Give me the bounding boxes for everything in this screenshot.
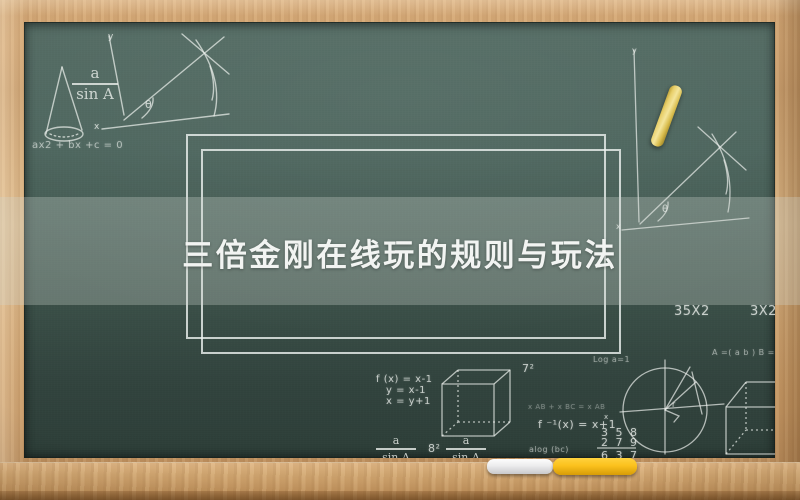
- log-product-expression: alog (bc): [529, 445, 569, 454]
- function-fx: f (x) = x-1: [376, 374, 433, 385]
- chalk-ledge: [0, 462, 800, 500]
- fraction-bar: [446, 448, 486, 450]
- expr-3x2: 3X2: [750, 304, 775, 319]
- expr-8-squared: 8²: [428, 442, 440, 455]
- sine-rule-left-num: a: [376, 435, 416, 446]
- expr-7-squared: 7²: [522, 362, 534, 375]
- axis-label-y: y: [108, 32, 114, 42]
- yellow-chalk-stick: [649, 84, 683, 149]
- axis-label-y-right: y: [632, 46, 637, 55]
- matrix-expression: A =( a b ) B =( c d ) , =( e f ): [712, 348, 775, 357]
- page-title: 三倍金刚在线玩的规则与玩法: [0, 222, 800, 282]
- sine-rule-top-num: a: [72, 66, 118, 81]
- log-base-expression: Log a=1: [593, 355, 630, 364]
- quadratic-equation: ax2 + bx +c = 0: [32, 140, 123, 151]
- fraction-bar: [72, 83, 118, 85]
- addition-row-1: 3 5 8: [601, 426, 639, 439]
- angle-theta-label: θ: [145, 98, 152, 111]
- addition-row-2: 2 7 9: [601, 436, 639, 449]
- chalk-ledge-lip: [0, 491, 800, 500]
- sine-rule-mid-den: sin A: [446, 452, 486, 459]
- sine-rule-mid-num: a: [446, 435, 486, 446]
- inverse-function: f ⁻¹(x) = x+1: [538, 418, 616, 431]
- radius-label: r: [672, 400, 676, 409]
- fraction-bar: [376, 448, 416, 450]
- axis-label-x: x: [94, 122, 100, 132]
- white-chalk-stick: [487, 459, 553, 474]
- segment-sum-expression: x AB + x BC = x AB: [528, 403, 605, 411]
- sine-rule-mid: a sin A: [446, 435, 486, 458]
- addition-result: 6 3 7: [601, 449, 639, 458]
- angle-theta-label-right: θ: [662, 204, 669, 215]
- yellow-chalk-stick-ledge: [553, 458, 637, 475]
- sine-rule-top-den: sin A: [72, 87, 118, 102]
- function-x: x = y+1: [386, 396, 431, 407]
- addition-x-label: x: [604, 413, 609, 421]
- chalkboard-banner: y x θ a sin A ax2 + bx +c = 0 y x θ 35X2…: [0, 0, 800, 500]
- sine-rule-left-den: sin A: [376, 452, 416, 459]
- sine-rule-left: a sin A: [376, 435, 416, 458]
- expr-35x2: 35X2: [674, 304, 710, 319]
- function-y: y = x-1: [386, 385, 426, 396]
- sine-rule-top: a sin A: [72, 66, 118, 102]
